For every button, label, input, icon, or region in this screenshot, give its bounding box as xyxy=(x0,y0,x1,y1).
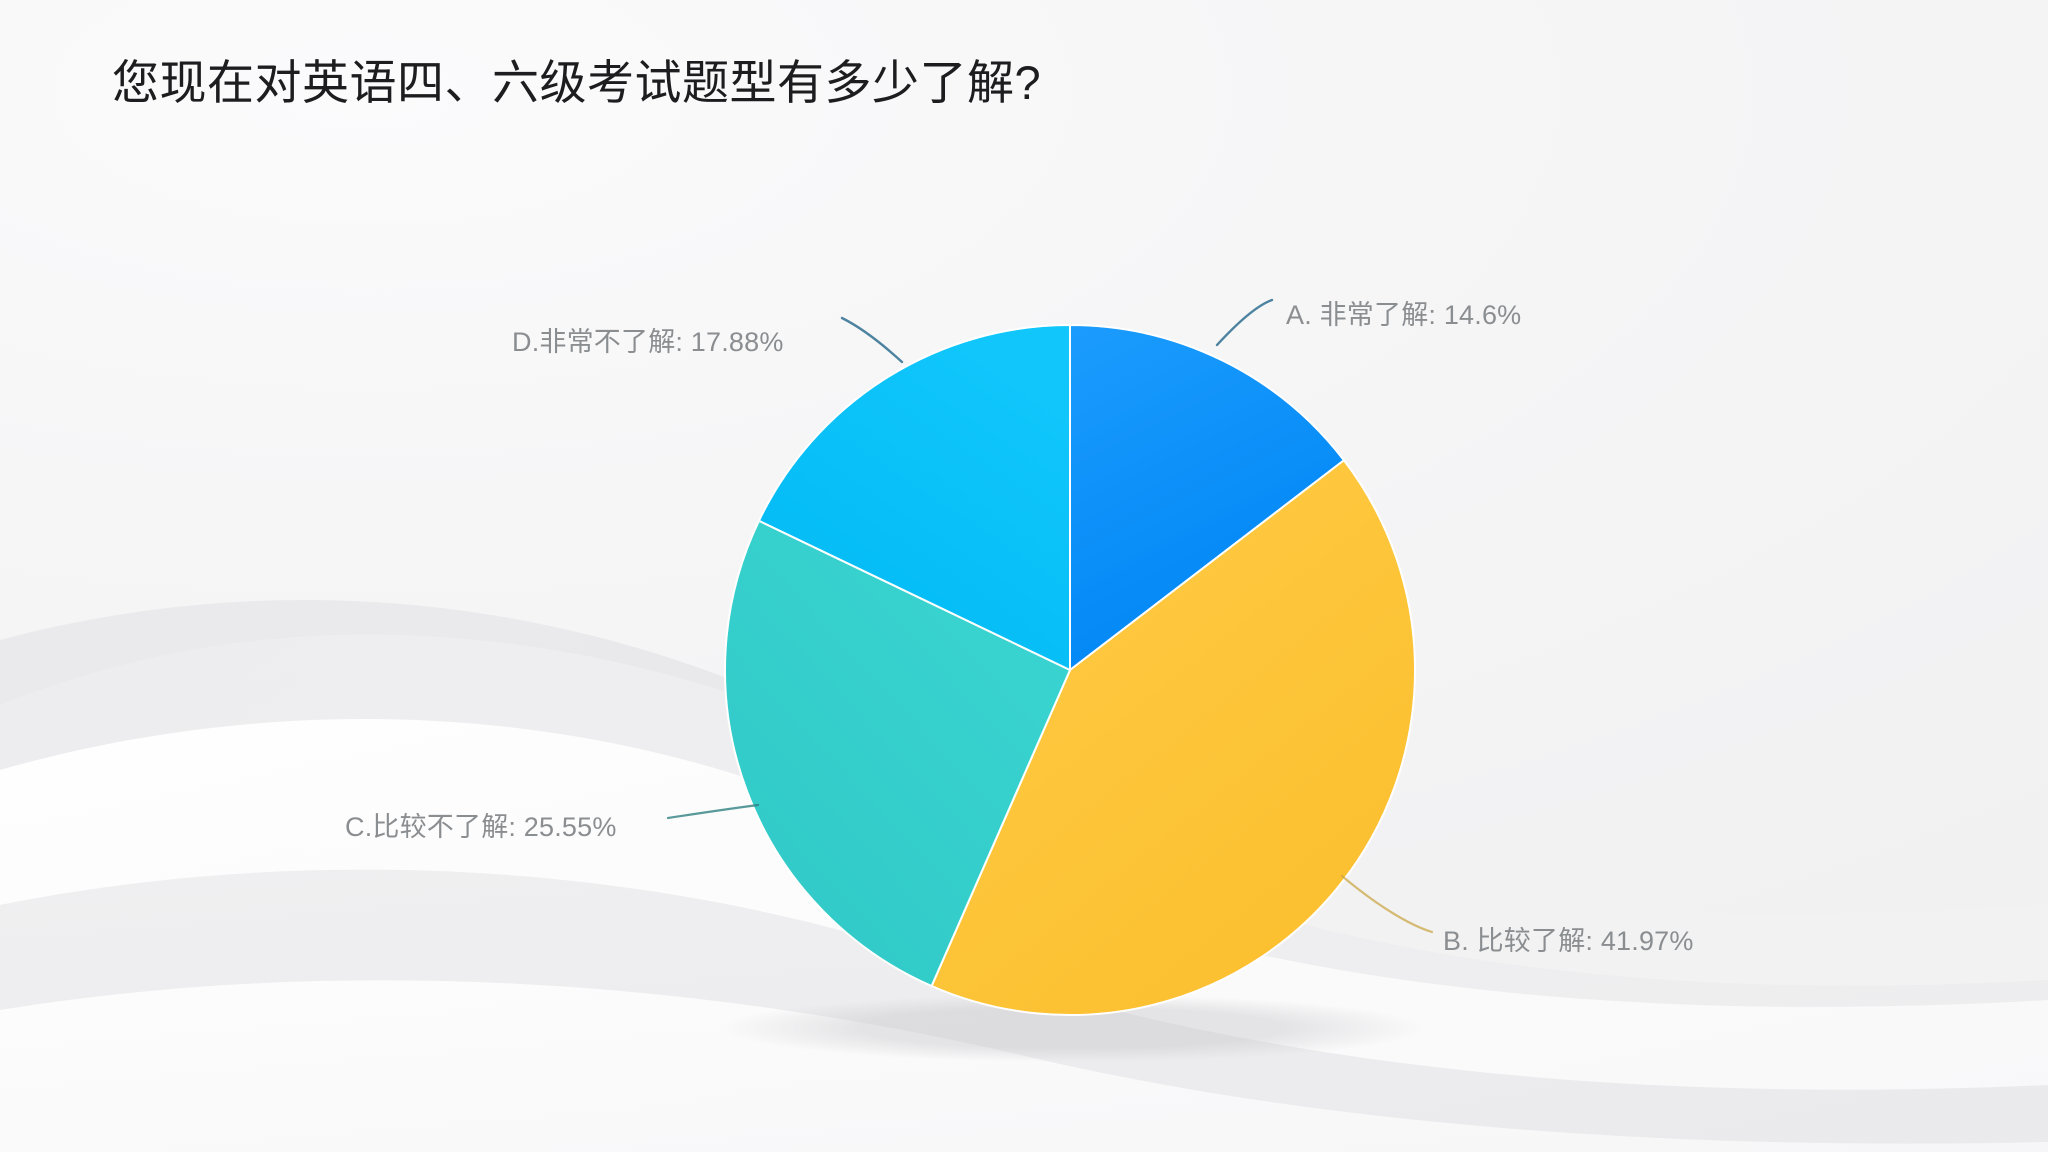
pie-chart-svg xyxy=(0,0,2048,1152)
slide-canvas: 您现在对英语四、六级考试题型有多少了解? xyxy=(0,0,2048,1152)
pie-chart: A. 非常了解: 14.6% B. 比较了解: 41.97% C.比较不了解: … xyxy=(0,0,2048,1152)
pie-label-b: B. 比较了解: 41.97% xyxy=(1443,919,1694,958)
pie-label-a: A. 非常了解: 14.6% xyxy=(1286,293,1521,332)
leader-line-d xyxy=(842,318,902,362)
leader-line-c xyxy=(668,805,758,818)
leader-line-b xyxy=(1342,876,1432,932)
pie-label-d: D.非常不了解: 17.88% xyxy=(512,320,784,359)
pie-label-c: C.比较不了解: 25.55% xyxy=(345,805,617,844)
leader-line-a xyxy=(1217,300,1272,345)
